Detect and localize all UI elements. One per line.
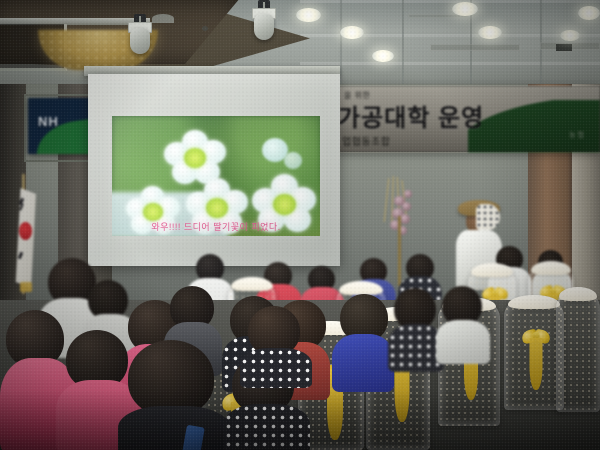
- flag-pole-finial: [20, 282, 32, 292]
- slide-caption: 와우!!!! 드디어 딸기꽃이 피었다.: [112, 220, 320, 233]
- banner-logo-text: 농협: [569, 130, 586, 140]
- flower-bud: [284, 152, 302, 169]
- korean-flag: [8, 182, 42, 294]
- nh-sign: NH: [28, 98, 92, 154]
- projected-slide: 와우!!!! 드디어 딸기꽃이 피었다.: [112, 116, 320, 236]
- photo-scene: NH 을 위한 가공대학 운영 업협동조합 농협: [0, 0, 600, 450]
- ceiling-dome-speaker: [152, 14, 174, 23]
- banner-green-swoosh: [468, 100, 600, 152]
- ceiling-spotlight: [128, 16, 152, 62]
- banquet-chair: [504, 300, 564, 410]
- downlight: [560, 30, 580, 41]
- downlight: [578, 6, 600, 20]
- downlight: [372, 50, 394, 62]
- ceiling-spotlight: [252, 2, 276, 50]
- attendee: [436, 286, 490, 360]
- flag-taeguk-red: [19, 222, 32, 240]
- downlight: [478, 26, 502, 39]
- attendee-foreground: [118, 340, 230, 450]
- banquet-chair: [556, 292, 600, 412]
- ceiling-sensor: [202, 26, 208, 31]
- event-banner: 을 위한 가공대학 운영 업협동조합 농협: [336, 86, 600, 152]
- banner-line-2: 가공대학 운영: [338, 98, 484, 133]
- banner-line-3: 업협동조합: [342, 133, 391, 148]
- downlight: [340, 26, 364, 39]
- downlight: [452, 2, 478, 16]
- chair-bow: [522, 330, 550, 394]
- attendee: [332, 294, 394, 388]
- nh-sign-label: NH: [38, 114, 59, 129]
- attendee: [240, 306, 312, 382]
- projection-screen: 와우!!!! 드디어 딸기꽃이 피었다.: [88, 74, 340, 266]
- presenter-bandana: [476, 204, 500, 230]
- downlight: [296, 8, 321, 22]
